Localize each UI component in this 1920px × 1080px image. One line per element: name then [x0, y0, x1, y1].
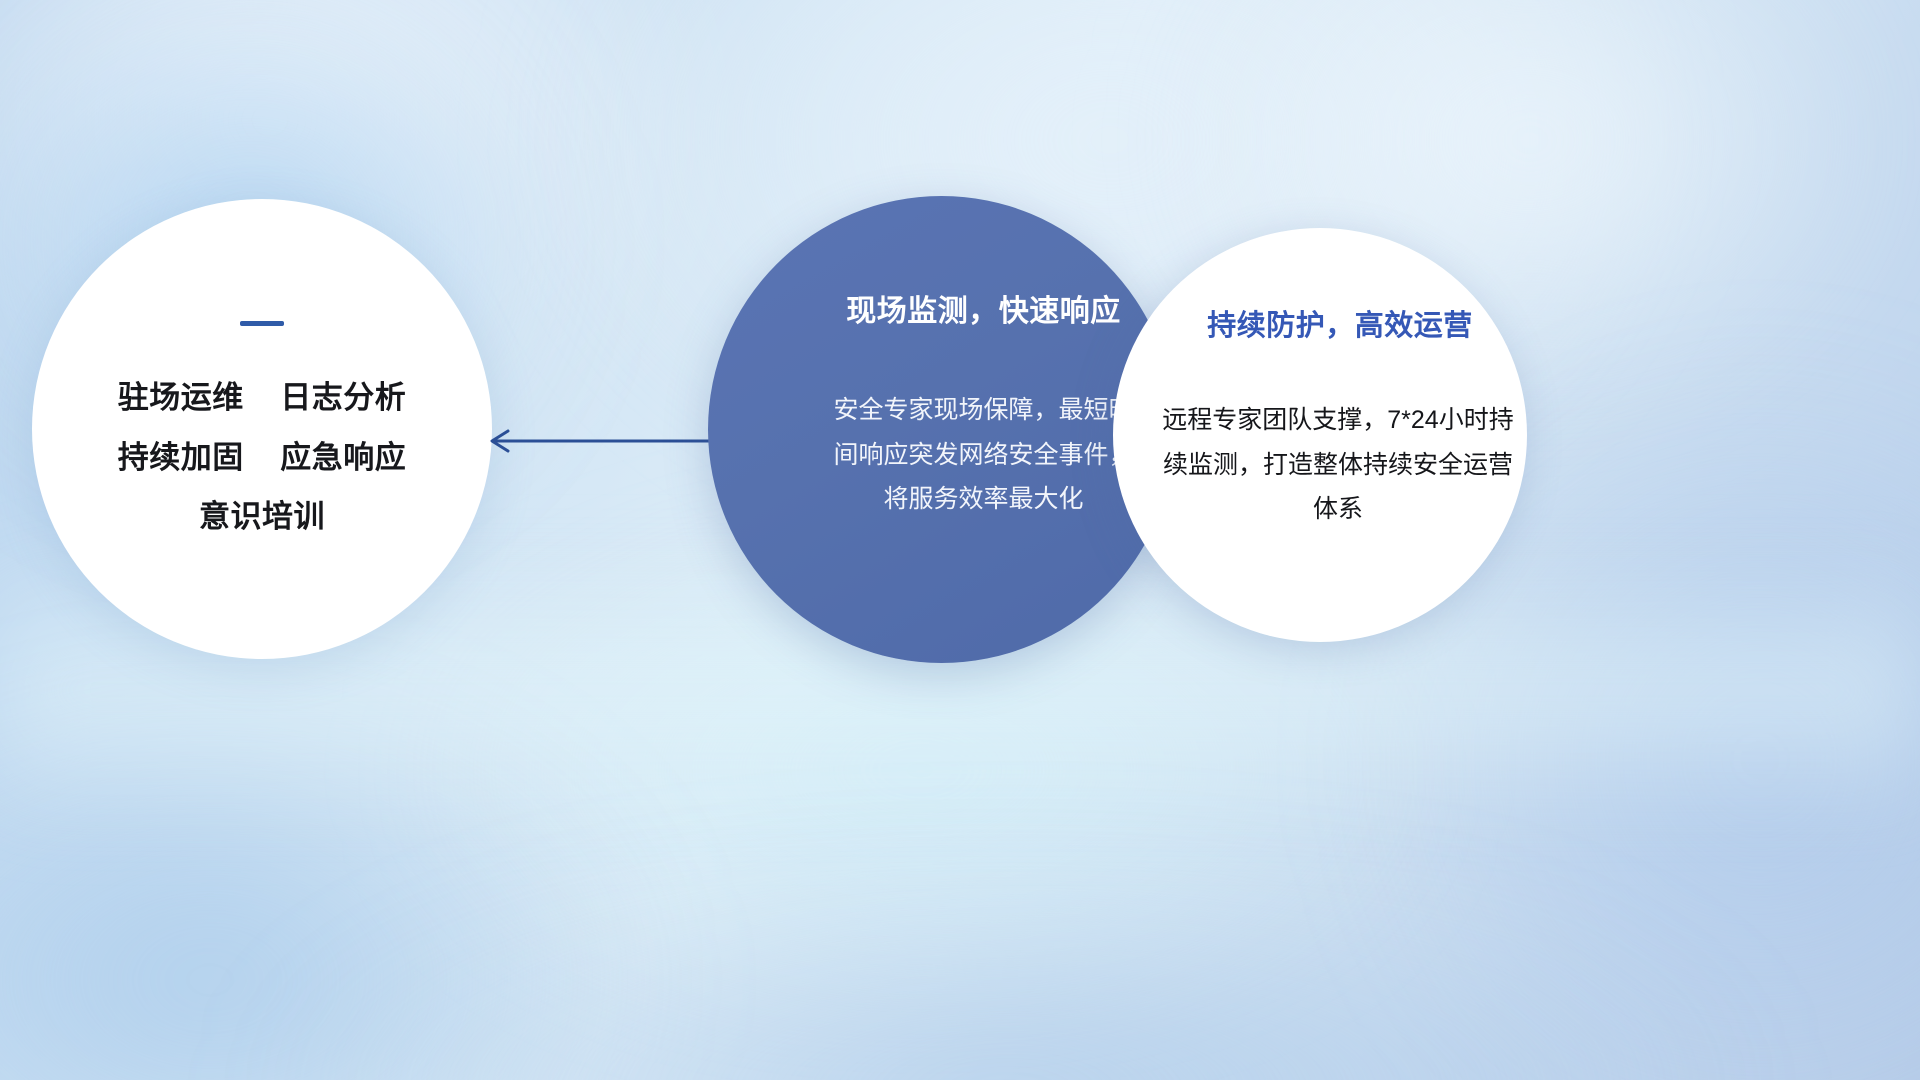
divider-dash	[240, 321, 284, 326]
list-item: 驻场运维 日志分析	[118, 368, 406, 428]
arrow-left-icon	[480, 418, 720, 464]
middle-onsite-circle[interactable]: 现场监测，快速响应 安全专家现场保障，最短时间响应突发网络安全事件，将服务效率最…	[708, 196, 1175, 663]
list-item: 持续加固 应急响应	[118, 428, 406, 488]
right-circle-title: 持续防护，高效运营	[1207, 302, 1473, 344]
middle-circle-title: 现场监测，快速响应	[846, 286, 1121, 330]
middle-circle-content: 现场监测，快速响应 安全专家现场保障，最短时间响应突发网络安全事件，将服务效率最…	[708, 196, 1175, 663]
left-circle-label-list: 驻场运维 日志分析 持续加固 应急响应 意识培训	[118, 368, 406, 547]
flow-arrow	[480, 418, 720, 464]
middle-circle-body: 安全专家现场保障，最短时间响应突发网络安全事件，将服务效率最大化	[834, 388, 1134, 522]
list-item: 意识培训	[118, 487, 406, 547]
right-circle-body: 远程专家团队支撑，7*24小时持续监测，打造整体持续安全运营体系	[1154, 398, 1522, 532]
left-capability-circle[interactable]: 驻场运维 日志分析 持续加固 应急响应 意识培训	[32, 199, 492, 659]
right-operations-circle[interactable]: 持续防护，高效运营 远程专家团队支撑，7*24小时持续监测，打造整体持续安全运营…	[1113, 228, 1527, 642]
